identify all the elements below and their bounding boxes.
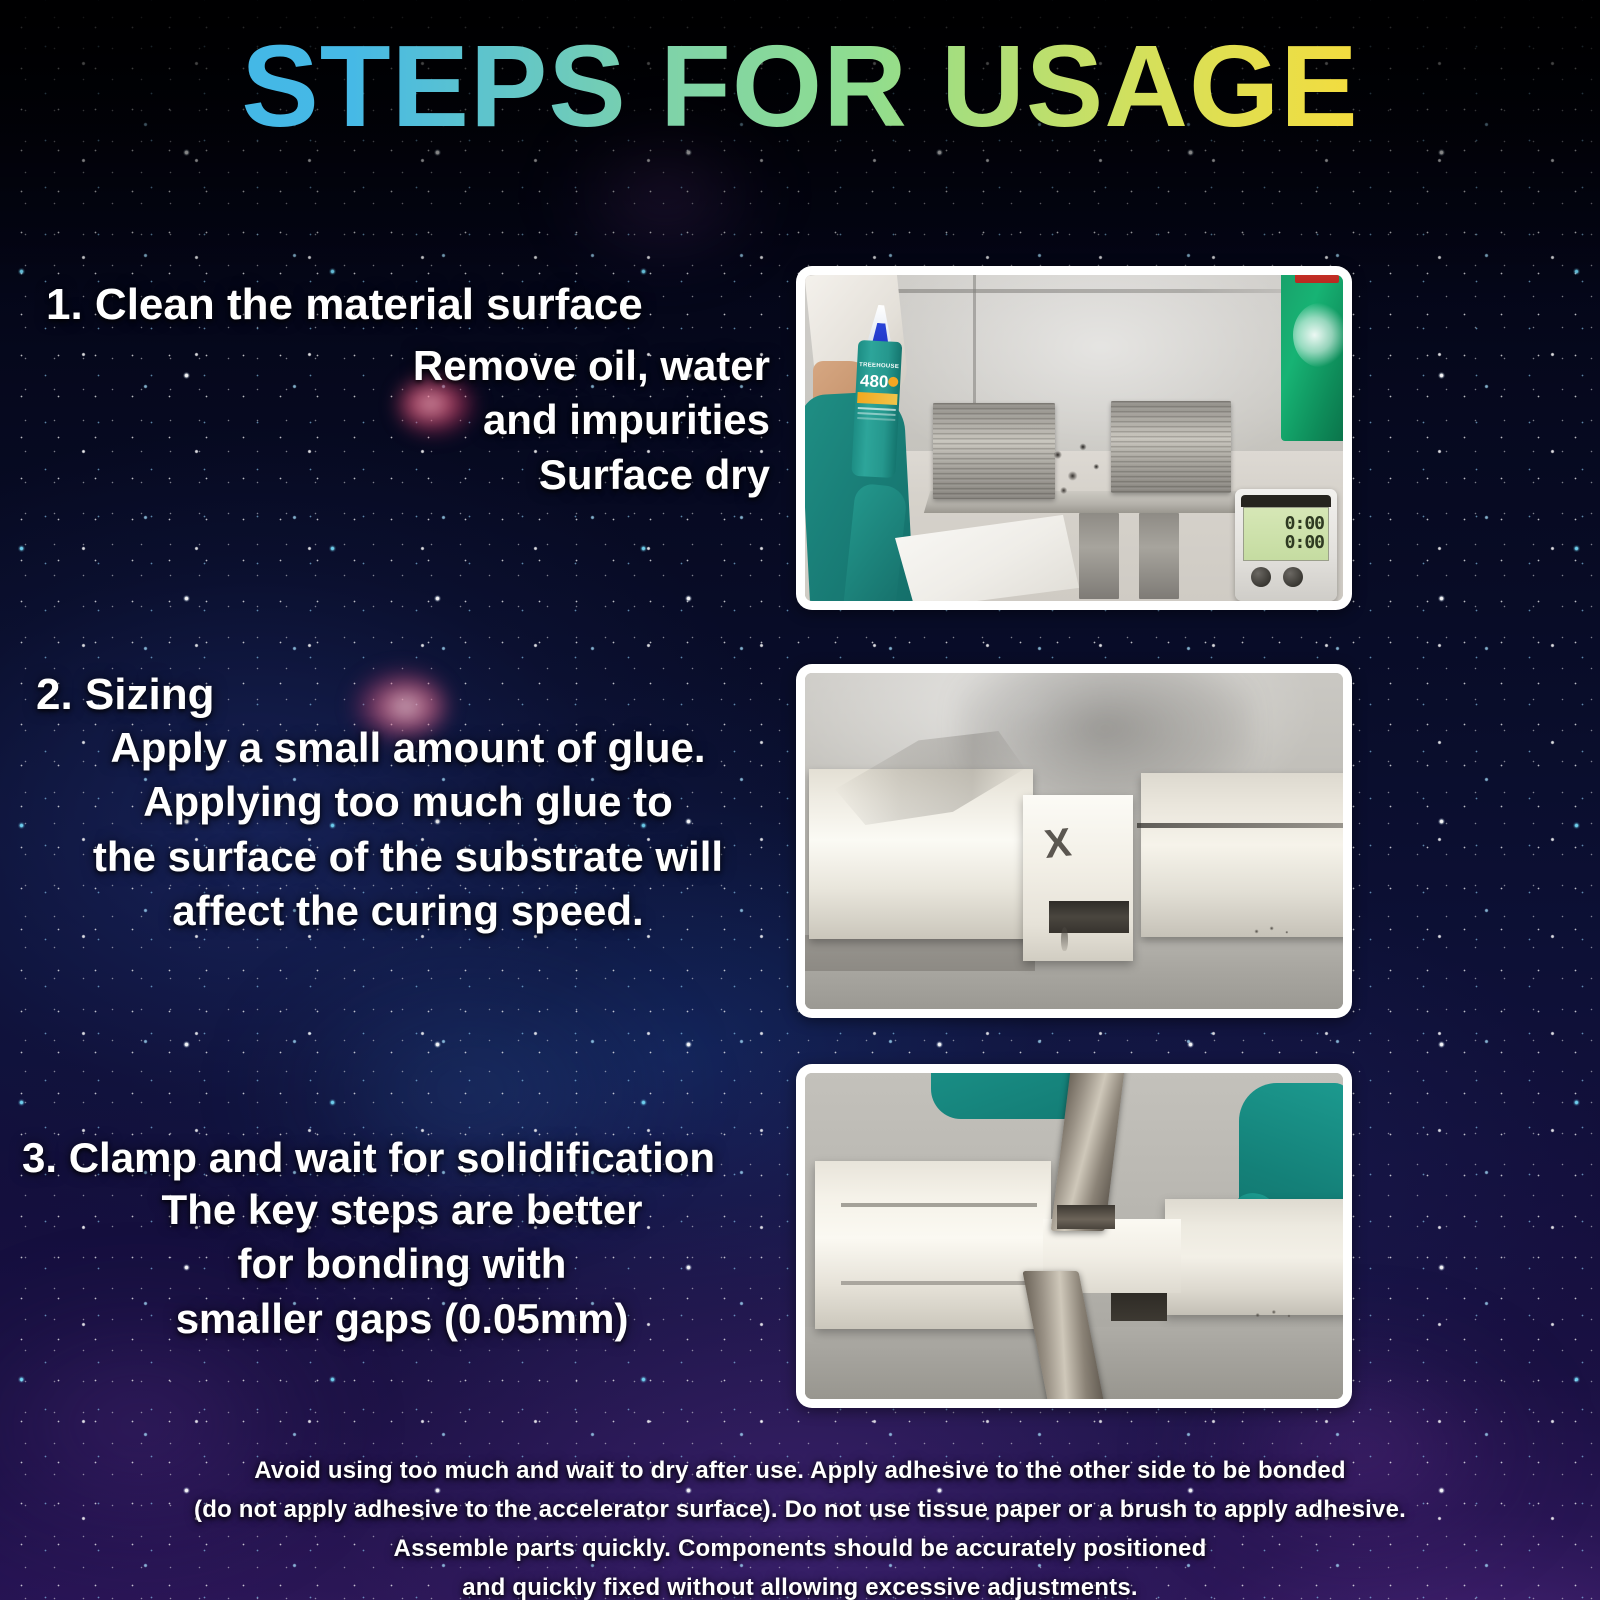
footer-line-3: Assemble parts quickly. Components shoul… (0, 1530, 1600, 1569)
step-3-text-block: 3. Clamp and wait for solidification The… (22, 1136, 782, 1346)
metal-strip-2 (1139, 513, 1179, 599)
page-title: STEPS FOR USAGE (0, 28, 1600, 144)
bottle-orange-band (857, 392, 898, 405)
bottle-model-label: 480 (858, 372, 891, 391)
center-joint-block: X (1023, 795, 1133, 961)
metal-block-right (1165, 1199, 1343, 1315)
workbench-edge-left (805, 935, 1035, 971)
step-1-body-line-1: Remove oil, water (46, 339, 770, 394)
spray-can (1281, 275, 1343, 441)
footer-note: Avoid using too much and wait to dry aft… (0, 1452, 1600, 1600)
step-1-photo: TREEHOUSE 480 0:00 0:00 (796, 266, 1352, 610)
timer-lcd-screen: 0:00 0:00 (1243, 507, 1329, 561)
footer-line-1: Avoid using too much and wait to dry aft… (0, 1452, 1600, 1491)
surface-marking (1249, 1307, 1303, 1321)
step-2-heading: 2. Sizing (36, 672, 780, 719)
step-1-photo-image: TREEHOUSE 480 0:00 0:00 (805, 275, 1343, 601)
timer-button-left (1251, 567, 1271, 587)
step-1-text-block: 1. Clean the material surface Remove oil… (46, 282, 770, 502)
step-2-body-line-1: Apply a small amount of glue. (36, 721, 780, 776)
spray-can-label (1293, 303, 1343, 367)
glue-bottle: TREEHOUSE 480 (851, 332, 902, 478)
step-2-body-line-2: Applying too much glue to (36, 775, 780, 830)
timer-button-right (1283, 567, 1303, 587)
step-3-photo-image (805, 1073, 1343, 1399)
metal-block-left (815, 1161, 1051, 1329)
spray-can-cap (1295, 275, 1339, 283)
step-1-body-line-3: Surface dry (46, 448, 770, 503)
surface-mark-icon: X (1042, 821, 1087, 877)
step-2-body-line-3: the surface of the substrate will (36, 830, 780, 885)
digital-timer: 0:00 0:00 (1235, 489, 1337, 601)
metal-block-groove (841, 1203, 1037, 1207)
metal-strip-1 (1079, 513, 1119, 599)
step-1-heading: 1. Clean the material surface (46, 282, 770, 329)
step-2-body: Apply a small amount of glue. Applying t… (36, 721, 780, 939)
timer-bezel (1241, 495, 1331, 507)
step-3-body-line-2: for bonding with (22, 1237, 782, 1292)
footer-line-2: (do not apply adhesive to the accelerato… (0, 1491, 1600, 1530)
clamp-jaw-tip (1057, 1205, 1115, 1229)
step-1-body: Remove oil, water and impurities Surface… (46, 339, 770, 503)
glue-drip (1061, 927, 1068, 951)
surface-debris (1043, 435, 1117, 501)
step-2-photo: X (796, 664, 1352, 1018)
metal-grain-texture (933, 403, 1055, 499)
step-3-photo (796, 1064, 1352, 1408)
footer-line-4: and quickly fixed without allowing exces… (0, 1569, 1600, 1600)
timer-readout-line-2: 0:00 (1244, 534, 1328, 553)
step-3-body-line-3: smaller gaps (0.05mm) (22, 1292, 782, 1347)
step-2-body-line-4: affect the curing speed. (36, 884, 780, 939)
metal-block-right (1111, 401, 1231, 493)
surface-marking (1249, 923, 1303, 937)
step-3-body: The key steps are better for bonding wit… (22, 1183, 782, 1347)
step-3-body-line-1: The key steps are better (22, 1183, 782, 1238)
metal-block-right (1141, 773, 1343, 937)
poster-root: STEPS FOR USAGE 1. Clean the material su… (0, 0, 1600, 1600)
step-1-body-line-2: and impurities (46, 393, 770, 448)
step-2-photo-image: X (805, 673, 1343, 1009)
metal-block-left (933, 403, 1055, 499)
step-2-text-block: 2. Sizing Apply a small amount of glue. … (36, 672, 780, 939)
metal-grain-texture (1111, 401, 1231, 493)
block-seam-line (1137, 823, 1343, 828)
joint-gap-slot (1049, 901, 1129, 933)
step-3-heading: 3. Clamp and wait for solidification (22, 1136, 782, 1181)
